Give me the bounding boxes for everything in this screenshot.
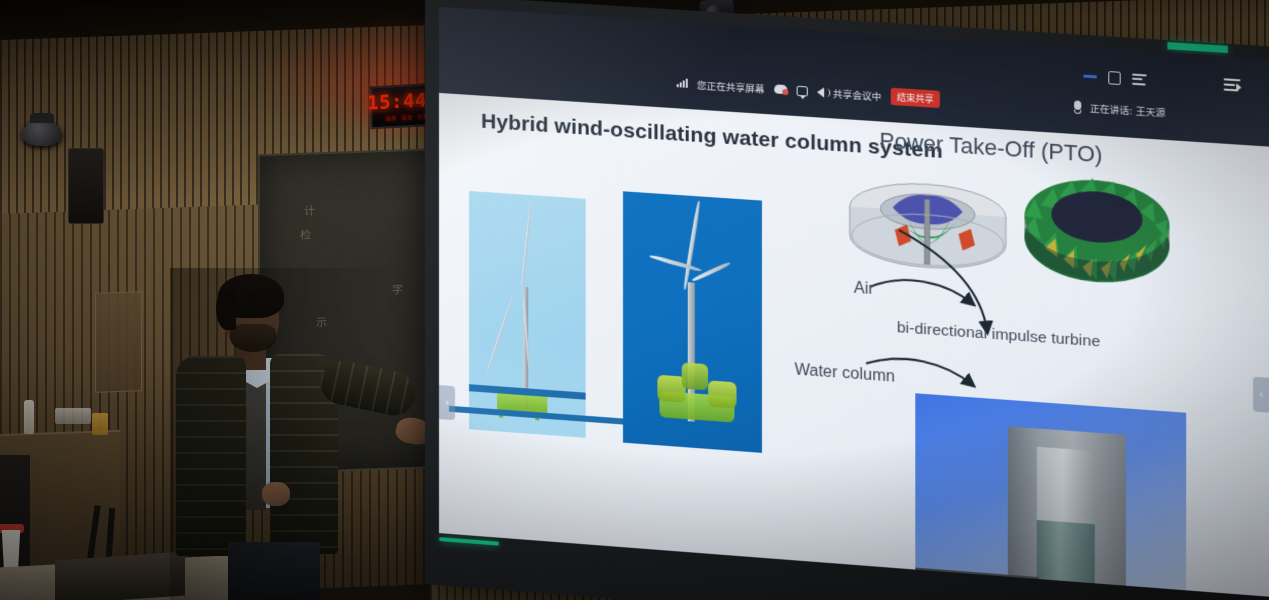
turbine-blade bbox=[649, 254, 701, 272]
presenter-resting-hand bbox=[262, 482, 290, 506]
slide-next-tab[interactable]: ‹ bbox=[1253, 377, 1269, 413]
label-air: Air bbox=[854, 280, 874, 300]
speaker-icon[interactable] bbox=[817, 87, 824, 98]
platform-column bbox=[682, 362, 708, 390]
minimize-icon[interactable] bbox=[1083, 75, 1096, 79]
mic-icon[interactable] bbox=[1074, 100, 1081, 114]
signal-icon bbox=[677, 78, 688, 88]
display-screen: 您正在共享屏幕 共享会议中 结束共享 正在讲话: 王天源 bbox=[439, 7, 1269, 597]
whiteboard-mark: 检 bbox=[300, 227, 311, 243]
wall-outlets bbox=[55, 408, 91, 424]
wall-display: 您正在共享屏幕 共享会议中 结束共享 正在讲话: 王天源 bbox=[425, 0, 1269, 600]
turbine-blade bbox=[691, 261, 731, 282]
wall-speaker bbox=[68, 148, 104, 224]
sharing-status-group: 您正在共享屏幕 共享会议中 结束共享 bbox=[677, 74, 940, 108]
presentation-slide: Hybrid wind-oscillating water column sys… bbox=[439, 93, 1269, 597]
figure-wind-turbine-side-view bbox=[469, 191, 586, 438]
pen-holder bbox=[92, 413, 108, 435]
chat-icon[interactable] bbox=[796, 85, 807, 96]
presenter-beard bbox=[230, 324, 276, 352]
active-speaker-label: 正在讲话: 王天源 bbox=[1090, 100, 1166, 119]
turbine-blade bbox=[520, 201, 532, 292]
slide-prev-tab[interactable]: › bbox=[439, 385, 455, 420]
active-speaker-group: 正在讲话: 王天源 bbox=[1074, 99, 1165, 119]
cloud-record-icon[interactable] bbox=[774, 84, 787, 94]
presenter-person bbox=[170, 268, 430, 600]
end-share-button[interactable]: 结束共享 bbox=[891, 88, 940, 108]
table-object bbox=[55, 551, 185, 600]
share-meeting-label: 共享会议中 bbox=[833, 86, 882, 103]
presenter-hair-side bbox=[216, 290, 236, 330]
turbine-blade bbox=[486, 294, 515, 375]
window-icon[interactable] bbox=[1108, 71, 1120, 85]
wall-poster bbox=[95, 291, 142, 393]
presenter-jacket-left bbox=[176, 356, 246, 556]
water-bottle bbox=[24, 400, 34, 434]
turbine-to-owc-arrow bbox=[874, 206, 1059, 351]
whiteboard-mark: 计 bbox=[304, 202, 315, 218]
menu-icon[interactable] bbox=[1224, 78, 1241, 92]
figure-floating-wind-turbine-3d bbox=[623, 191, 762, 453]
presenter-trousers bbox=[228, 542, 320, 600]
window-controls-group bbox=[1083, 69, 1146, 86]
platform-column bbox=[708, 380, 736, 408]
sharing-status-text: 您正在共享屏幕 bbox=[697, 77, 765, 95]
screenshot-scene: 15:44:16 温度 湿度 日期 星期 计 检 字 示 bbox=[0, 0, 1269, 600]
dome-camera-icon bbox=[22, 120, 62, 146]
list-icon[interactable] bbox=[1132, 73, 1147, 86]
